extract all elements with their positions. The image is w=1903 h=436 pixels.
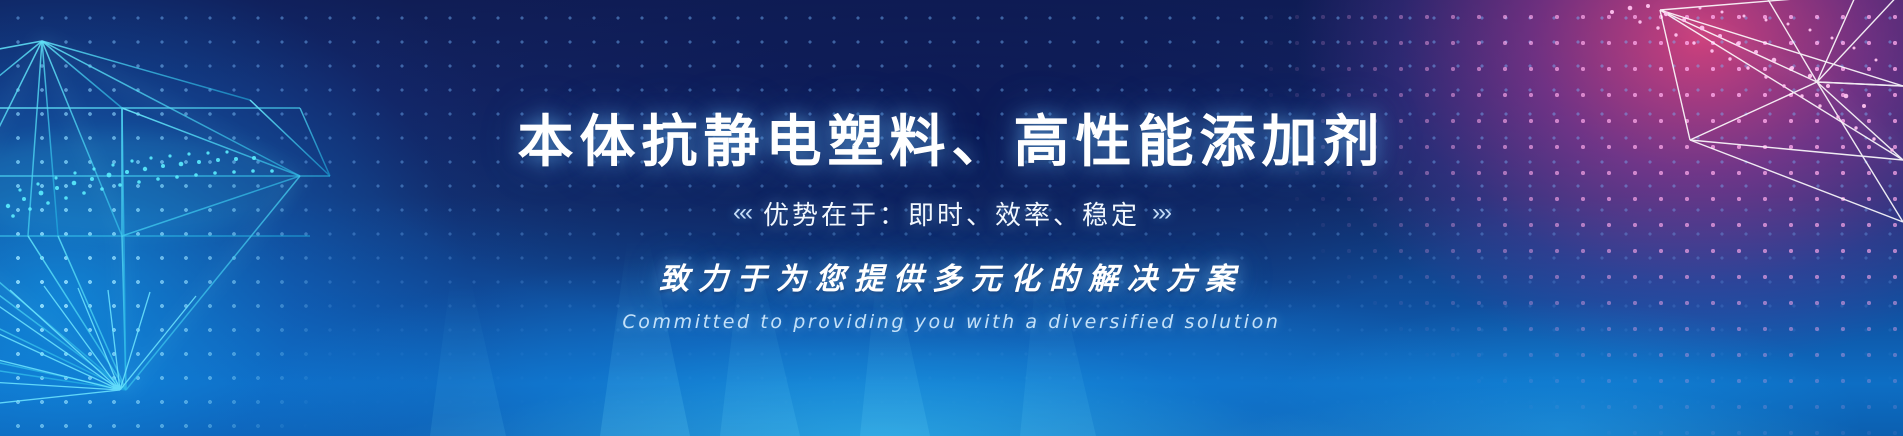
chevron-left-icon: ‹‹‹ — [733, 199, 751, 227]
banner-tagline-english: Committed to providing you with a divers… — [622, 311, 1280, 333]
banner-subtitle-text: 优势在于：即时、效率、稳定 — [763, 195, 1140, 232]
banner-subtitle: ‹‹‹ 优势在于：即时、效率、稳定 ››› — [733, 195, 1170, 232]
hero-banner: 本体抗静电塑料、高性能添加剂 ‹‹‹ 优势在于：即时、效率、稳定 ››› 致力于… — [0, 0, 1903, 436]
chevron-right-icon: ››› — [1152, 199, 1170, 227]
banner-content: 本体抗静电塑料、高性能添加剂 ‹‹‹ 优势在于：即时、效率、稳定 ››› 致力于… — [0, 0, 1903, 436]
banner-title: 本体抗静电塑料、高性能添加剂 — [518, 112, 1386, 175]
banner-tagline-chinese: 致力于为您提供多元化的解决方案 — [659, 254, 1244, 298]
